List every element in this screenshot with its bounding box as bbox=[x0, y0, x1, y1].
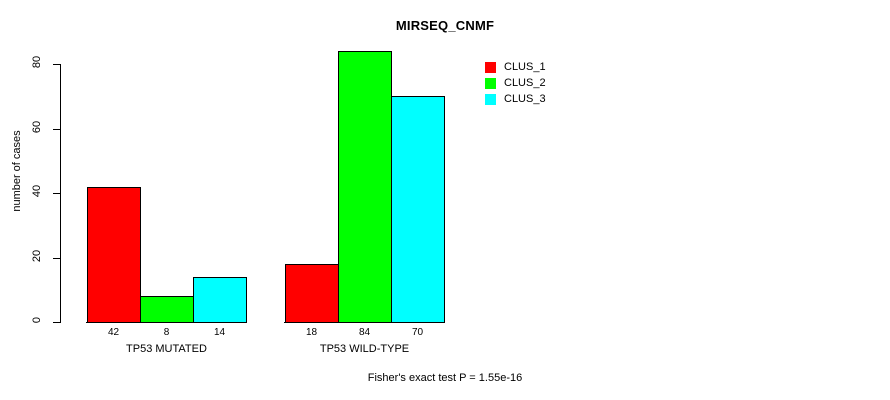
legend-swatch-icon bbox=[485, 62, 496, 73]
bar-clus_1 bbox=[87, 187, 141, 323]
bar-value-label: 18 bbox=[285, 327, 338, 338]
bar-clus_1 bbox=[285, 264, 339, 323]
bar-clus_3 bbox=[391, 96, 445, 323]
bar-value-label: 14 bbox=[193, 327, 246, 338]
legend-label: CLUS_1 bbox=[504, 60, 546, 74]
legend-swatch-icon bbox=[485, 78, 496, 89]
legend-label: CLUS_2 bbox=[504, 76, 546, 90]
plot-area: 42814TP53 MUTATED188470TP53 WILD-TYPE bbox=[0, 0, 890, 400]
x-axis-group-label: TP53 WILD-TYPE bbox=[245, 343, 484, 355]
legend-swatch-icon bbox=[485, 94, 496, 105]
bar-clus_2 bbox=[338, 51, 392, 323]
bar-value-label: 8 bbox=[140, 327, 193, 338]
bar-clus_3 bbox=[193, 277, 247, 323]
legend-label: CLUS_3 bbox=[504, 92, 546, 106]
chart-figure: MIRSEQ_CNMF number of cases 020406080 42… bbox=[0, 0, 890, 400]
statistical-annotation: Fisher's exact test P = 1.55e-16 bbox=[0, 372, 890, 384]
bar-clus_2 bbox=[140, 296, 194, 323]
bar-value-label: 42 bbox=[87, 327, 140, 338]
bar-value-label: 70 bbox=[391, 327, 444, 338]
bar-value-label: 84 bbox=[338, 327, 391, 338]
